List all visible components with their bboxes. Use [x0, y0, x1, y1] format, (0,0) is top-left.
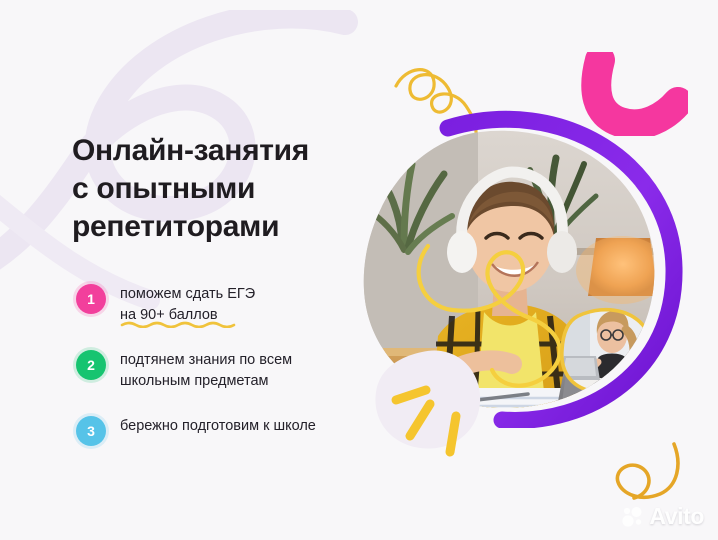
- badge-wrap-3: 3: [76, 416, 106, 446]
- benefit-number-badge-2: 2: [76, 350, 106, 380]
- avito-wordmark: Avito: [649, 505, 704, 528]
- badge-wrap-2: 2: [76, 350, 106, 380]
- promo-poster: Онлайн-занятия с опытными репетиторами 1…: [0, 0, 718, 540]
- benefits-list: 1 поможем сдать ЕГЭ на 90+ баллов 2 подт…: [76, 283, 376, 446]
- benefit-item-1: 1 поможем сдать ЕГЭ на 90+ баллов: [76, 283, 376, 325]
- benefit-item-2: 2 подтянем знания по всем школьным предм…: [76, 349, 376, 391]
- benefit-text-3: бережно подготовим к школе: [120, 415, 316, 437]
- yellow-squiggle-bottom-decor: [612, 438, 696, 513]
- benefit-text-2: подтянем знания по всем школьным предмет…: [120, 349, 292, 391]
- sun-blob-decor: [368, 348, 494, 485]
- headline: Онлайн-занятия с опытными репетиторами: [72, 132, 372, 245]
- benefit-number-badge-1: 1: [76, 284, 106, 314]
- avito-watermark: Avito: [622, 505, 704, 528]
- benefit-text-1: поможем сдать ЕГЭ на 90+ баллов: [120, 283, 255, 325]
- badge-wrap-1: 1: [76, 284, 106, 314]
- avito-dots-icon: [622, 506, 644, 528]
- benefit-item-3: 3 бережно подготовим к школе: [76, 415, 376, 446]
